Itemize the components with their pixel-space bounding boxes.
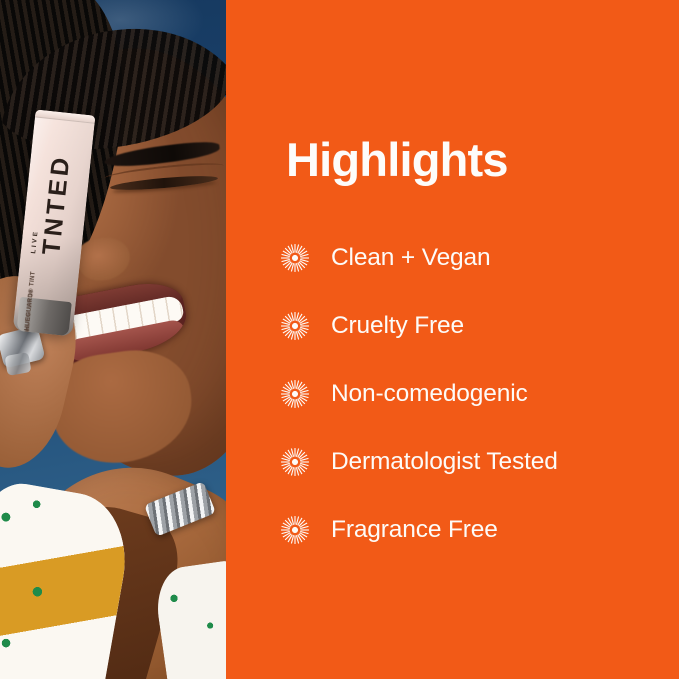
sunburst-icon (280, 379, 310, 409)
product-highlights-card: TNTED LIVE HUEGUARD® TINT 3-IN-1 TINT SP… (0, 0, 679, 679)
list-item-label: Fragrance Free (331, 518, 498, 543)
silver-ring-secondary (4, 352, 31, 376)
page-title: Highlights (286, 136, 508, 183)
list-item: Cruelty Free (280, 292, 670, 360)
list-item-label: Dermatologist Tested (331, 450, 558, 475)
highlights-list: Clean + Vegan Cruelty Free Non-comedogen… (280, 224, 670, 564)
list-item-label: Clean + Vegan (331, 246, 490, 271)
sunburst-icon (280, 243, 310, 273)
list-item: Clean + Vegan (280, 224, 670, 292)
list-item: Non-comedogenic (280, 360, 670, 428)
tube-brand-name: TNTED (33, 111, 81, 299)
list-item-label: Cruelty Free (331, 314, 464, 339)
product-lifestyle-photo: TNTED LIVE HUEGUARD® TINT 3-IN-1 TINT SP… (0, 0, 226, 679)
sunburst-icon (280, 447, 310, 477)
list-item-label: Non-comedogenic (331, 382, 528, 407)
sunburst-icon (280, 311, 310, 341)
list-item: Fragrance Free (280, 496, 670, 564)
sunburst-icon (280, 515, 310, 545)
list-item: Dermatologist Tested (280, 428, 670, 496)
highlights-panel: Highlights Clean + Vegan Cruelty Free (226, 0, 679, 679)
